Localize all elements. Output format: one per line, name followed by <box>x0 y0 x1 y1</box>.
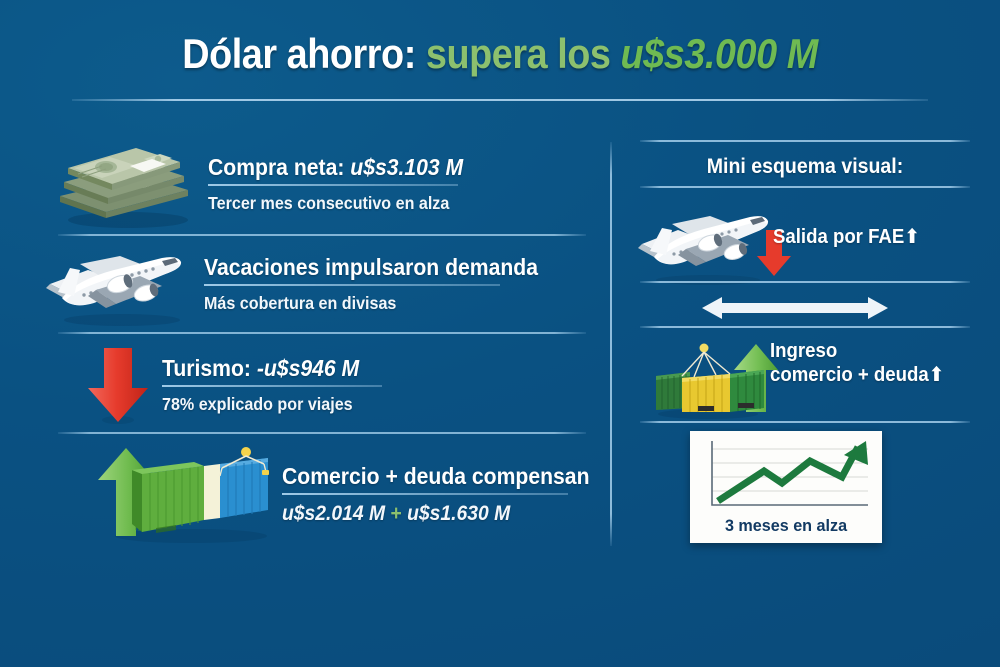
row4-amount-b: u$s1.630 M <box>407 502 510 525</box>
row-turismo: Turismo: -u$s946 M 78% explicado por via… <box>82 344 382 426</box>
row-compra-neta: Compra neta: u$s3.103 M Tercer mes conse… <box>48 138 485 230</box>
trend-chart-caption: 3 meses en alza <box>695 516 877 536</box>
right-item-ingreso-label-line1: Ingreso <box>770 340 944 364</box>
trend-chart <box>690 431 882 521</box>
left-separator-1 <box>58 234 586 236</box>
money-stack-icon <box>48 138 198 230</box>
row4-plus: + <box>385 502 407 525</box>
row-vacaciones-text: Vacaciones impulsaron demanda Más cobert… <box>204 254 567 314</box>
row-comercio-deuda: Comercio + deuda compensan u$s2.014 M + … <box>86 444 616 544</box>
row-comercio-heading: Comercio + deuda compensan <box>282 463 589 490</box>
row-comercio-text: Comercio + deuda compensan u$s2.014 M + … <box>282 463 616 526</box>
airplane-icon <box>36 240 196 328</box>
row1-heading-plain: Compra neta: <box>208 154 350 180</box>
left-separator-2 <box>58 332 586 334</box>
row-compra-neta-text: Compra neta: u$s3.103 M Tercer mes conse… <box>208 154 485 214</box>
red-down-arrow-icon <box>82 344 154 426</box>
row-turismo-sub: 78% explicado por viajes <box>162 394 364 415</box>
double-headed-arrow-icon <box>700 294 890 322</box>
row-compra-neta-heading: Compra neta: u$s3.103 M <box>208 154 463 181</box>
row-comercio-sub: u$s2.014 M + u$s1.630 M <box>282 502 589 526</box>
right-column-heading: Mini esquema visual: <box>624 155 987 179</box>
right-column: Mini esquema visual: <box>610 0 1000 667</box>
left-separator-3 <box>58 432 586 434</box>
row-vacaciones-heading: Vacaciones impulsaron demanda <box>204 254 538 281</box>
row1-heading-amount: u$s3.103 M <box>350 154 463 180</box>
row4-underline <box>282 493 568 495</box>
row-vacaciones-sub: Más cobertura en divisas <box>204 293 538 314</box>
right-rule-under-heading <box>640 186 970 188</box>
row-compra-neta-sub: Tercer mes consecutivo en alza <box>208 193 463 214</box>
row2-underline <box>204 284 500 286</box>
infographic-root: Dólar ahorro: supera los u$s3.000 M <box>0 0 1000 667</box>
right-rule-2 <box>640 281 970 283</box>
row-turismo-heading: Turismo: -u$s946 M <box>162 355 364 382</box>
row3-underline <box>162 385 382 387</box>
right-rule-top <box>640 140 970 142</box>
shipping-containers-icon <box>86 444 276 544</box>
row1-underline <box>208 184 458 186</box>
right-item-salida-fae-label: Salida por FAE⬆ <box>773 226 920 250</box>
left-column: Compra neta: u$s3.103 M Tercer mes conse… <box>0 0 610 667</box>
row3-heading-amount: -u$s946 M <box>257 355 359 381</box>
trend-chart-card: 3 meses en alza <box>690 431 882 543</box>
row-vacaciones: Vacaciones impulsaron demanda Más cobert… <box>36 240 567 328</box>
containers-with-green-up-arrow-icon <box>646 332 786 422</box>
right-rule-4 <box>640 421 970 423</box>
row3-heading-plain: Turismo: <box>162 355 257 381</box>
row-turismo-text: Turismo: -u$s946 M 78% explicado por via… <box>162 355 382 415</box>
right-item-ingreso-label-line2: comercio + deuda⬆ <box>770 364 944 388</box>
right-rule-3 <box>640 326 970 328</box>
right-item-ingreso-label: Ingreso comercio + deuda⬆ <box>770 340 944 387</box>
row4-amount-a: u$s2.014 M <box>282 502 385 525</box>
